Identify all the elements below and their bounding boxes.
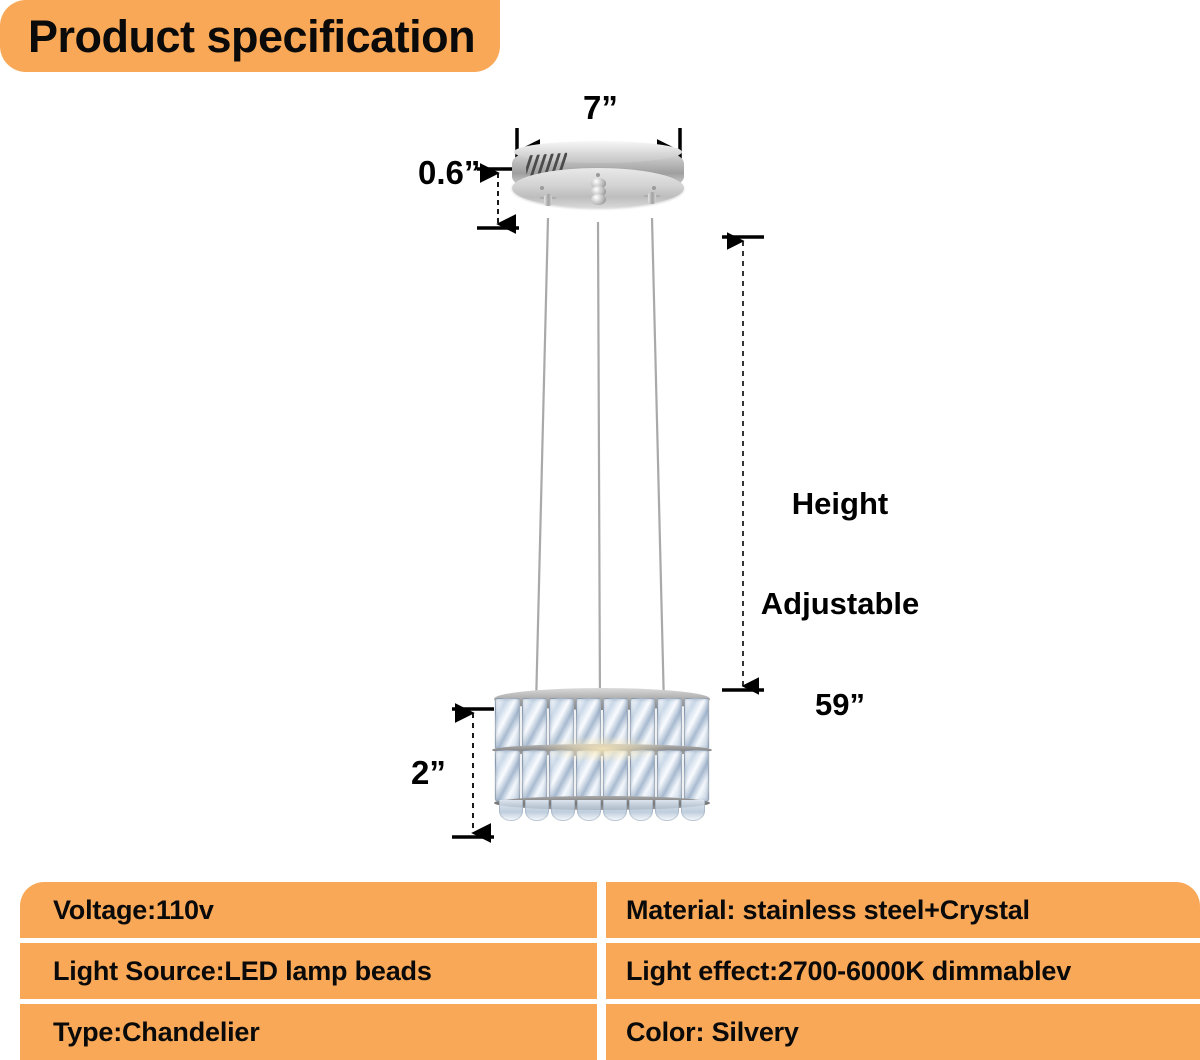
spec-voltage: Voltage:110v <box>20 882 597 938</box>
dimension-label-height-adjustable: Height Adjustable 59” <box>745 420 935 788</box>
suspension-wires <box>536 218 664 706</box>
spec-type: Type:Chandelier <box>20 1004 597 1060</box>
page-title: Product specification <box>28 14 475 59</box>
spec-light-source: Light Source:LED lamp beads <box>20 943 597 999</box>
wire-mount-left <box>540 194 556 208</box>
crystal-ring-fixture <box>488 688 716 846</box>
table-row: Light Source:LED lamp beads Light effect… <box>20 943 1200 999</box>
crystal-bottom-scallop <box>498 800 706 826</box>
table-row: Type:Chandelier Color: Silvery <box>20 1004 1200 1060</box>
wire-mount-right <box>644 192 660 206</box>
canopy-screw <box>652 186 656 190</box>
specification-table: Voltage:110v Material: stainless steel+C… <box>20 882 1200 1060</box>
dimension-label-width: 7” <box>583 91 618 125</box>
canopy-screw <box>596 173 600 177</box>
height-adjustable-line-1: Height <box>745 487 935 520</box>
product-diagram: 7” 0.6” 2” Height Adjustable 59” <box>0 80 1200 870</box>
canopy-screw <box>540 186 544 190</box>
product-specification-banner: Product specification <box>0 0 500 72</box>
center-crystal-ball-stack <box>591 178 606 212</box>
dimension-label-canopy-thickness: 0.6” <box>418 156 480 190</box>
spec-color: Color: Silvery <box>606 1004 1200 1060</box>
crystal-row-upper <box>494 698 710 750</box>
height-adjustable-line-2: Adjustable <box>745 587 935 620</box>
crystal-row-lower <box>494 750 710 802</box>
dimension-label-ring-height: 2” <box>411 756 446 790</box>
ceiling-canopy <box>512 142 684 232</box>
spec-light-effect: Light effect:2700-6000K dimmablev <box>606 943 1200 999</box>
height-adjustable-line-3: 59” <box>745 688 935 721</box>
table-row: Voltage:110v Material: stainless steel+C… <box>20 882 1200 938</box>
spec-material: Material: stainless steel+Crystal <box>606 882 1200 938</box>
